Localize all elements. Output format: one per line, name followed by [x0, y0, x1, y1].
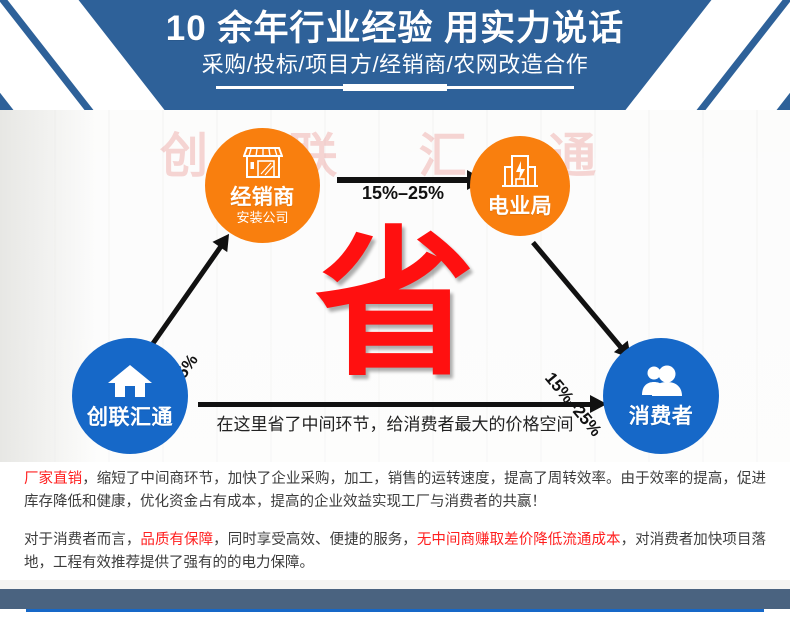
paragraph-one: 厂家直销，缩短了中间商环节，加快了企业采购，加工，销售的运转速度，提高了周转效率…	[24, 468, 766, 515]
house-icon	[107, 363, 153, 404]
paragraph-two-text-1: 对于消费者而言，	[24, 532, 140, 548]
watermark-text: 创 联 汇 通	[0, 116, 790, 186]
node-dealer-label: 经销商	[230, 187, 295, 209]
footer-base	[0, 612, 790, 621]
node-company[interactable]: 创联汇通	[72, 338, 188, 454]
paragraph-two-highlight-1: 品质有保障	[140, 532, 213, 548]
node-consumer-label: 消费者	[629, 406, 694, 428]
node-power-bureau-label: 电业局	[488, 196, 553, 218]
page-subtitle: 采购/投标/项目方/经销商/农网改造合作	[202, 51, 588, 79]
storefront-icon	[243, 146, 283, 184]
paragraph-one-text: ，缩短了中间商环节，加快了企业采购，加工，销售的运转速度，提高了周转效率。由于效…	[24, 471, 766, 510]
header-divider	[216, 86, 574, 89]
page-header: 10 余年行业经验 用实力说话 采购/投标/项目方/经销商/农网改造合作	[0, 0, 790, 110]
people-icon	[638, 364, 684, 403]
flow-diagram: 创 联 汇 通 省 15%–25% 15%–25% 15%–25% 在这里省了中…	[0, 110, 790, 462]
header-content: 10 余年行业经验 用实力说话 采购/投标/项目方/经销商/农网改造合作	[0, 0, 790, 110]
footer-gap	[0, 580, 790, 589]
footer-bar	[0, 589, 790, 609]
arrow-label-company-to-consumer: 在这里省了中间环节，给消费者最大的价格空间	[180, 410, 610, 435]
paragraph-two-text-2: ，同时享受高效、便捷的服务，	[213, 532, 417, 548]
paragraph-two-highlight-2: 无中间商赚取差价降低流通成本	[417, 532, 621, 548]
page-title: 10 余年行业经验 用实力说话	[166, 8, 624, 49]
node-consumer[interactable]: 消费者	[603, 338, 719, 454]
node-dealer-sublabel: 安装公司	[236, 211, 288, 225]
description-section: 厂家直销，缩短了中间商环节，加快了企业采购，加工，销售的运转速度，提高了周转效率…	[0, 462, 790, 587]
arrow-company-to-consumer	[198, 402, 592, 407]
paragraph-two: 对于消费者而言，品质有保障，同时享受高效、便捷的服务，无中间商赚取差价降低流通成…	[24, 529, 766, 576]
node-power-bureau[interactable]: 电业局	[470, 136, 570, 236]
paragraph-one-highlight: 厂家直销	[24, 471, 82, 487]
node-dealer[interactable]: 经销商 安装公司	[205, 128, 320, 243]
page-root: 10 余年行业经验 用实力说话 采购/投标/项目方/经销商/农网改造合作 创 联…	[0, 0, 790, 621]
arrow-label-dealer-to-bureau: 15%–25%	[337, 183, 469, 204]
node-company-label: 创联汇通	[87, 407, 173, 429]
power-building-icon	[501, 154, 539, 193]
